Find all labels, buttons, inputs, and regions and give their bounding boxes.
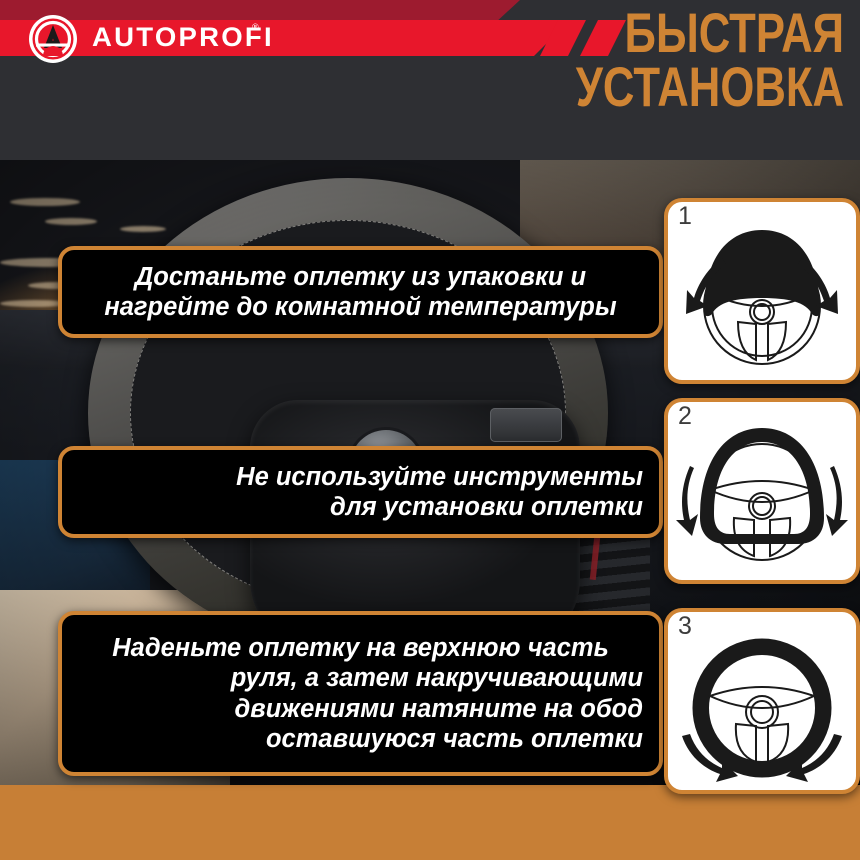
step-3-line-1: Наденьте оплетку на верхнюю часть xyxy=(78,633,643,663)
step-2-line-2: для установки оплетки xyxy=(78,492,643,522)
step-2-text-callout: Не используйте инструменты для установки… xyxy=(58,446,663,538)
step-1-line-1: Достаньте оплетку из упаковки и xyxy=(78,262,643,292)
brand-registered-mark: ® xyxy=(252,22,259,32)
header-bar: AUTOPROFI ® БЫСТРАЯ УСТАНОВКА xyxy=(0,0,860,160)
cloud xyxy=(45,218,97,225)
header-red-band xyxy=(0,20,570,56)
page-title: БЫСТРАЯ УСТАНОВКА xyxy=(576,6,844,114)
bottom-orange-bar xyxy=(0,785,860,860)
step-3-icon-box: 3 xyxy=(664,608,860,794)
step-3-text-callout: Наденьте оплетку на верхнюю часть руля, … xyxy=(58,611,663,776)
brand-wordmark: AUTOPROFI xyxy=(92,22,274,53)
step-3-line-4: оставшуюся часть оплетки xyxy=(78,724,643,754)
promo-infographic-page: AUTOPROFI ® БЫСТРАЯ УСТАНОВКА xyxy=(0,0,860,860)
page-title-line-2: УСТАНОВКА xyxy=(576,60,844,114)
step-3-line-2: руля, а затем накручивающими xyxy=(78,663,643,693)
cloud xyxy=(10,198,80,206)
step-1-icon-box: 1 xyxy=(664,198,860,384)
step-3-line-3: движениями натяните на обод xyxy=(78,694,643,724)
steering-wheel-buttons-top xyxy=(490,408,562,442)
step-2-line-1: Не используйте инструменты xyxy=(78,462,643,492)
steering-wheel-cover-sides-arrows-down-icon xyxy=(668,402,856,580)
cloud xyxy=(120,226,166,232)
steering-wheel-cover-full-arrows-inward-icon xyxy=(668,612,856,790)
autoprofi-a-emblem-icon xyxy=(28,14,78,64)
step-1-text-callout: Достаньте оплетку из упаковки и нагрейте… xyxy=(58,246,663,338)
steering-wheel-cover-top-arrows-outward-icon xyxy=(668,202,856,380)
step-1-line-2: нагрейте до комнатной температуры xyxy=(78,292,643,322)
step-2-icon-box: 2 xyxy=(664,398,860,584)
